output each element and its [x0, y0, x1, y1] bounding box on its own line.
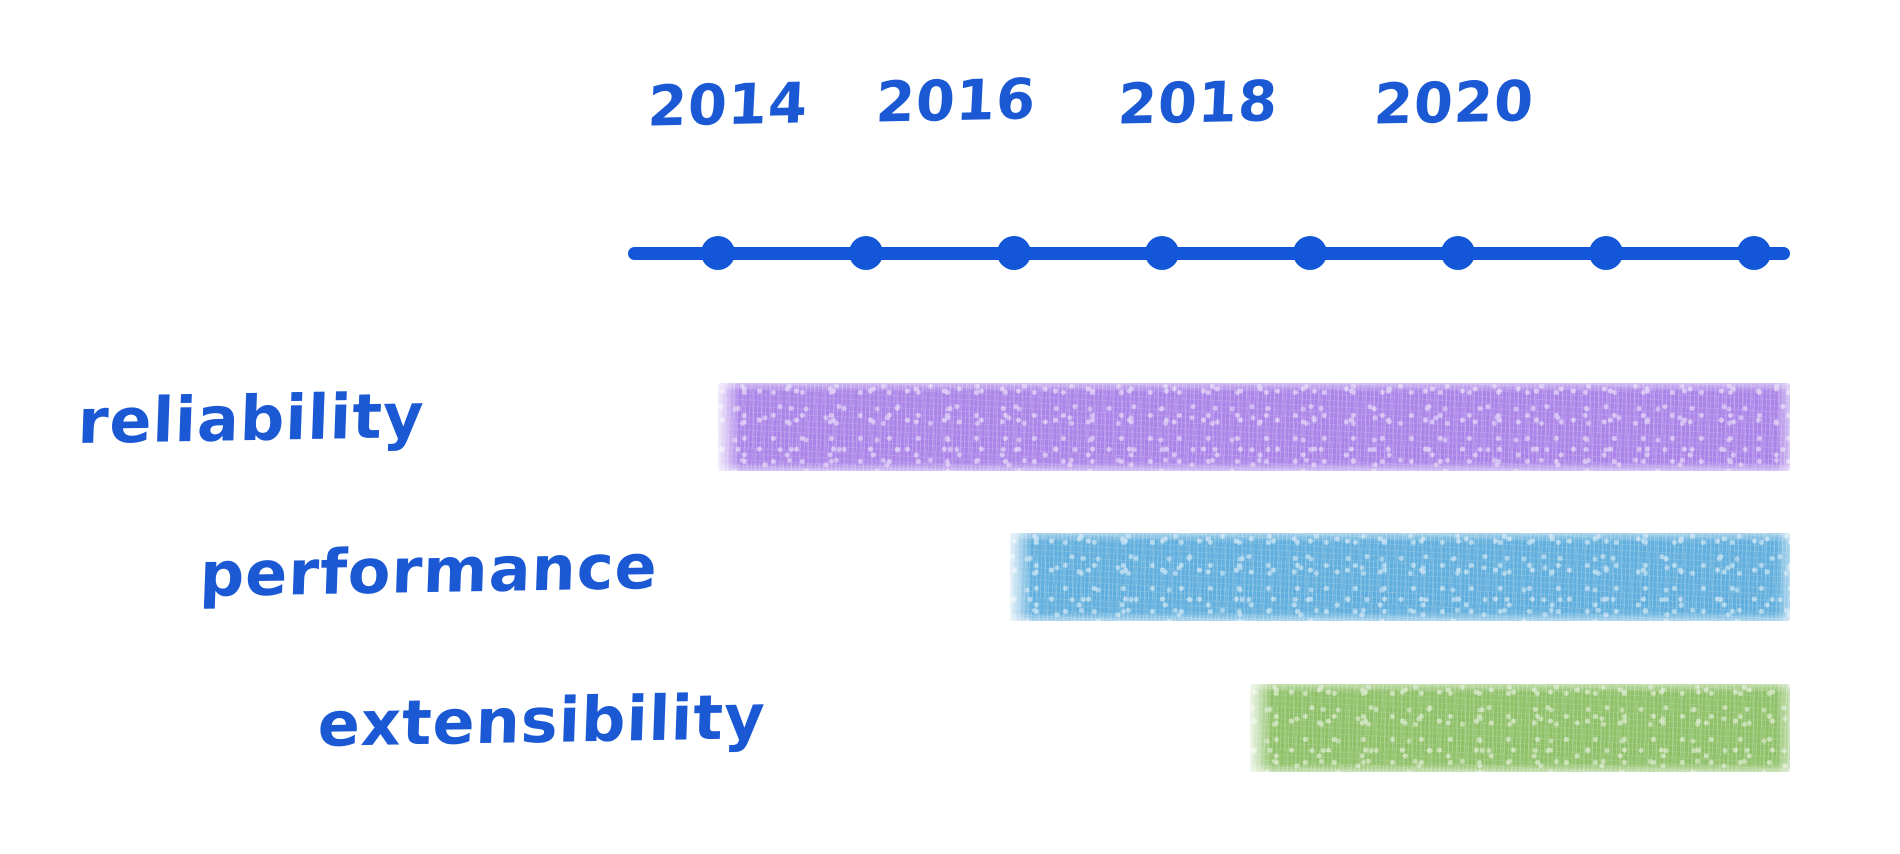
- timeline-dot-4: [1293, 236, 1327, 270]
- timeline-dot-5: [1441, 236, 1475, 270]
- row-label-reliability: reliability: [77, 385, 426, 453]
- timeline-dot-6: [1589, 236, 1623, 270]
- timeline-dot-1: [849, 236, 883, 270]
- timeline-axis: [0, 0, 1900, 300]
- bar-edge-fade: [1250, 684, 1790, 772]
- timeline-dot-0: [701, 236, 735, 270]
- row-label-performance: performance: [199, 536, 659, 606]
- whiteboard-canvas: 2014 2016 2018 2020 reliability performa…: [0, 0, 1900, 854]
- bar-reliability: [718, 383, 1790, 471]
- timeline-dot-7: [1737, 236, 1771, 270]
- bar-edge-fade: [718, 383, 1790, 471]
- bar-performance: [1010, 533, 1790, 621]
- timeline-dot-3: [1145, 236, 1179, 270]
- bar-edge-fade: [1010, 533, 1790, 621]
- row-label-extensibility: extensibility: [317, 686, 767, 756]
- timeline-dot-2: [997, 236, 1031, 270]
- bar-extensibility: [1250, 684, 1790, 772]
